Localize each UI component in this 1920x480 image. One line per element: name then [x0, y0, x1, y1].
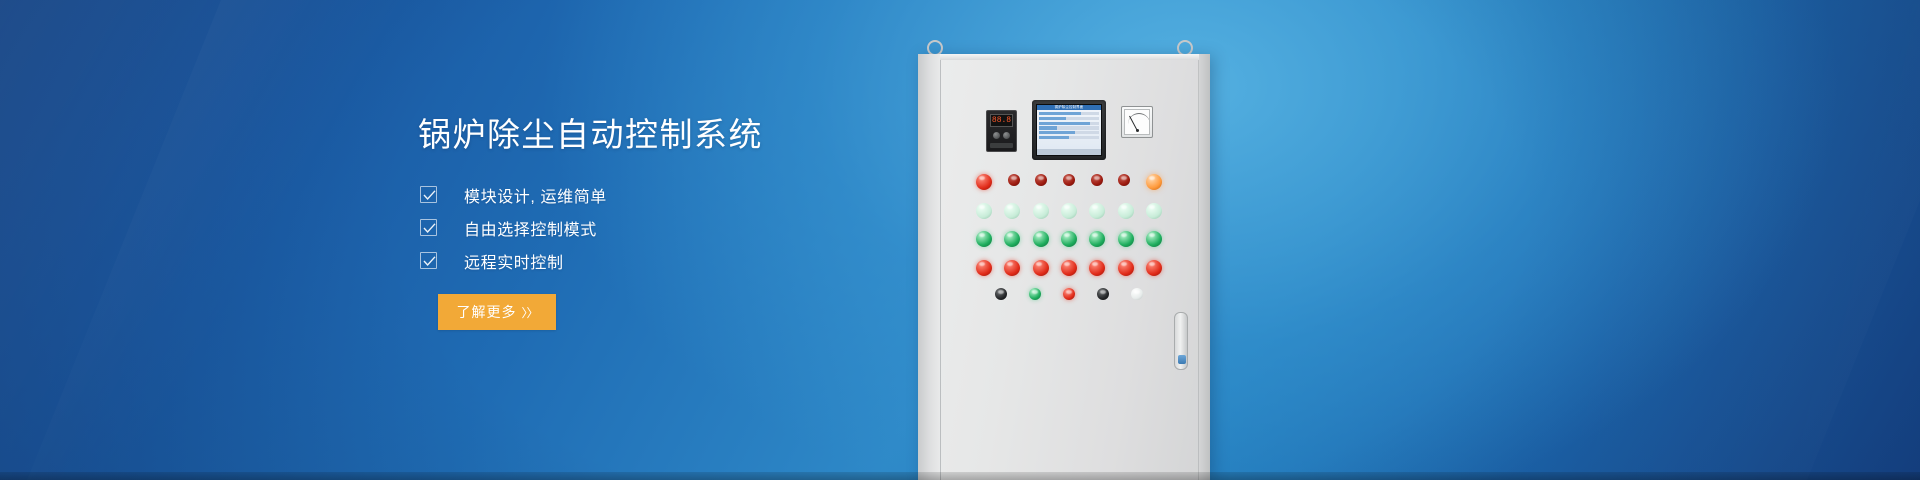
meter-hub	[1136, 129, 1139, 132]
hmi-row	[1039, 136, 1099, 139]
cabinet-door-seam	[940, 60, 941, 480]
indicator-lamp[interactable]	[1004, 203, 1020, 219]
indicator-lamp[interactable]	[1061, 260, 1077, 276]
learn-more-button[interactable]: 了解更多 〉〉	[438, 294, 556, 330]
control-cabinet-photo: 88.8 锅炉除尘控制界面	[900, 0, 1300, 480]
digital-controller: 88.8	[986, 110, 1017, 152]
knob-icon	[1003, 132, 1010, 139]
light-streak-decoration	[0, 0, 429, 480]
indicator-lamp[interactable]	[1091, 174, 1103, 186]
list-item: 模块设计, 运维简单	[420, 178, 607, 211]
analog-meter	[1121, 106, 1153, 138]
indicator-lamp[interactable]	[976, 203, 992, 219]
feature-label: 远程实时控制	[464, 249, 564, 273]
indicator-lamp[interactable]	[1146, 231, 1162, 247]
checkbox-check-icon	[420, 219, 437, 236]
push-button[interactable]	[1131, 288, 1143, 300]
light-streak-decoration	[1347, 0, 1920, 480]
indicator-lamp[interactable]	[976, 174, 992, 190]
feature-label: 自由选择控制模式	[464, 216, 597, 240]
indicator-lamp[interactable]	[1033, 260, 1049, 276]
cabinet-left-edge	[918, 54, 940, 480]
feature-label: 模块设计, 运维简单	[464, 183, 607, 207]
controller-display: 88.8	[990, 114, 1013, 127]
cabinet-top-lip	[918, 54, 1210, 60]
hmi-row	[1039, 117, 1099, 120]
lamp-row	[976, 203, 1162, 219]
meter-face	[1124, 109, 1150, 135]
indicator-lamp[interactable]	[1146, 174, 1162, 190]
indicator-lamp[interactable]	[1004, 260, 1020, 276]
push-button[interactable]	[1029, 288, 1041, 300]
hmi-footer	[1037, 149, 1101, 155]
indicator-lamp[interactable]	[976, 231, 992, 247]
controller-digits: 88.8	[992, 117, 1011, 125]
lamp-row	[976, 260, 1162, 276]
checkbox-check-icon	[420, 186, 437, 203]
lock-icon	[1178, 355, 1186, 364]
indicator-lamp[interactable]	[1008, 174, 1020, 186]
indicator-lamp[interactable]	[1118, 231, 1134, 247]
indicator-lamp[interactable]	[976, 260, 992, 276]
list-item: 自由选择控制模式	[420, 211, 607, 244]
hmi-row	[1039, 131, 1099, 134]
indicator-lamp[interactable]	[1146, 203, 1162, 219]
feature-list: 模块设计, 运维简单 自由选择控制模式 远程实时控制	[420, 178, 607, 277]
cabinet-door-seam	[1198, 60, 1199, 480]
hmi-rows	[1037, 110, 1101, 139]
indicator-lamp[interactable]	[1118, 203, 1134, 219]
checkbox-check-icon	[420, 252, 437, 269]
light-streak-decoration	[0, 0, 433, 480]
indicator-lamp[interactable]	[1063, 174, 1075, 186]
cabinet-right-edge	[1199, 54, 1210, 480]
learn-more-label: 了解更多	[456, 302, 516, 322]
indicator-lamp[interactable]	[1033, 203, 1049, 219]
floor-shadow	[0, 472, 1920, 480]
indicator-lamp[interactable]	[1061, 203, 1077, 219]
indicator-lamp[interactable]	[1118, 260, 1134, 276]
hero-content: 锅炉除尘自动控制系统 模块设计, 运维简单 自由选择控制模式 远程实时控制	[418, 0, 978, 480]
indicator-lamp[interactable]	[1146, 260, 1162, 276]
hmi-touch-panel: 锅炉除尘控制界面	[1032, 100, 1106, 160]
hero-banner: 锅炉除尘自动控制系统 模块设计, 运维简单 自由选择控制模式 远程实时控制	[0, 0, 1920, 480]
knob-icon	[993, 132, 1000, 139]
indicator-lamp[interactable]	[1035, 174, 1047, 186]
chevron-right-icon: 〉〉	[521, 304, 537, 321]
controller-knobs	[990, 132, 1013, 139]
push-button[interactable]	[1097, 288, 1109, 300]
lamp-row	[995, 288, 1143, 300]
controller-strip	[990, 143, 1013, 148]
page-title: 锅炉除尘自动控制系统	[418, 108, 763, 156]
indicator-lamp[interactable]	[1004, 231, 1020, 247]
lamp-row	[976, 231, 1162, 247]
indicator-lamp-grid	[976, 174, 1162, 300]
hmi-row	[1039, 126, 1099, 129]
indicator-lamp[interactable]	[1089, 231, 1105, 247]
indicator-lamp[interactable]	[1033, 231, 1049, 247]
control-cabinet: 88.8 锅炉除尘控制界面	[918, 54, 1210, 480]
push-button[interactable]	[1063, 288, 1075, 300]
lamp-row	[976, 174, 1162, 190]
list-item: 远程实时控制	[420, 244, 607, 277]
hmi-screen: 锅炉除尘控制界面	[1036, 104, 1102, 156]
hmi-row	[1039, 112, 1099, 115]
indicator-lamp[interactable]	[1089, 260, 1105, 276]
push-button[interactable]	[995, 288, 1007, 300]
indicator-lamp[interactable]	[1061, 231, 1077, 247]
indicator-lamp[interactable]	[1118, 174, 1130, 186]
indicator-lamp[interactable]	[1089, 203, 1105, 219]
cabinet-door-handle[interactable]	[1174, 312, 1188, 370]
hmi-row	[1039, 122, 1099, 125]
